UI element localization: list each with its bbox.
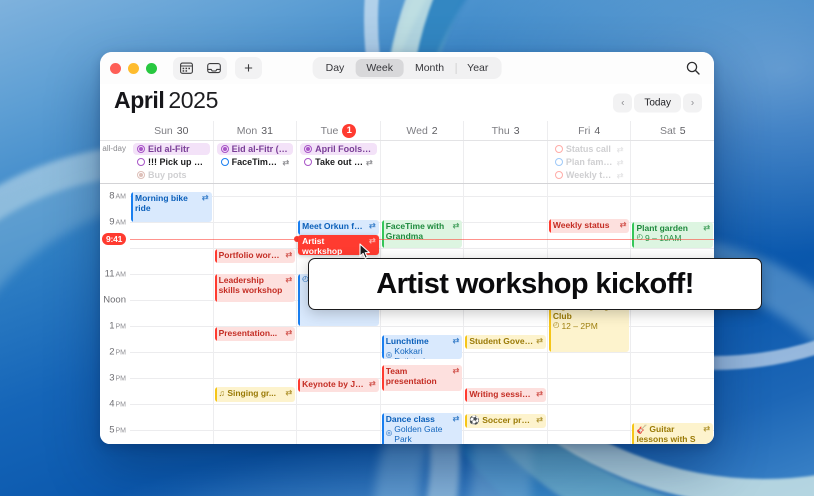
minimize-button[interactable] bbox=[128, 63, 139, 74]
event-title: Lunchtime bbox=[386, 336, 450, 346]
close-button[interactable] bbox=[110, 63, 121, 74]
time-label-text: 1 bbox=[109, 320, 114, 331]
calendar-event[interactable]: Weekly status⇄ bbox=[549, 219, 630, 233]
calendar-window: + Day Week Month Year April2025 ‹ bbox=[100, 52, 714, 444]
all-day-event-title: Status call bbox=[566, 144, 614, 154]
time-label-text: 11 bbox=[105, 268, 115, 279]
day-header-fri[interactable]: Fri4 bbox=[547, 121, 631, 140]
repeat-icon: ⇄ bbox=[369, 379, 376, 388]
event-time: ◴12 – 2PM bbox=[553, 321, 627, 331]
header-gutter bbox=[100, 121, 130, 140]
time-label-text: 8 bbox=[109, 190, 114, 201]
event-color-dot bbox=[221, 145, 229, 153]
tab-week[interactable]: Week bbox=[355, 59, 404, 77]
time-label: 4PM bbox=[109, 398, 126, 409]
all-day-event[interactable]: Take out the...⇄ bbox=[300, 156, 377, 168]
all-day-event[interactable]: Buy pots bbox=[133, 169, 210, 181]
event-title: Dance class bbox=[386, 414, 450, 424]
repeat-icon: ⇄ bbox=[617, 158, 624, 167]
traffic-lights bbox=[110, 63, 157, 74]
day-header-mon[interactable]: Mon31 bbox=[213, 121, 297, 140]
calendar-event[interactable]: ♫ Singing gr...⇄ bbox=[215, 387, 296, 403]
calendar-event[interactable]: Plant garden⇄◴9 – 10AM bbox=[632, 222, 713, 248]
calendar-event[interactable]: Presentation...⇄ bbox=[215, 327, 296, 341]
event-title: Writing sessio... bbox=[469, 389, 533, 399]
view-segmented-control[interactable]: Day Week Month Year bbox=[313, 57, 502, 79]
tab-month[interactable]: Month bbox=[404, 59, 455, 77]
mouse-cursor bbox=[359, 243, 371, 265]
time-label-suffix: PM bbox=[116, 375, 127, 382]
calendar-event[interactable]: Writing sessio...⇄ bbox=[465, 388, 546, 402]
all-day-event-title: Eid al-Fitr (obs... bbox=[232, 144, 290, 154]
repeat-icon: ⇄ bbox=[285, 250, 292, 259]
event-title: Portfolio work... bbox=[219, 250, 283, 260]
day-header-name: Fri bbox=[578, 125, 590, 137]
all-day-event[interactable]: FaceTime G...⇄ bbox=[217, 156, 294, 168]
time-label: 9AM bbox=[109, 216, 126, 227]
repeat-icon: ⇄ bbox=[536, 415, 543, 424]
repeat-icon: ⇄ bbox=[285, 328, 292, 337]
all-day-event-title: Weekly tea... bbox=[566, 170, 614, 180]
title-month: April bbox=[114, 87, 164, 113]
all-day-column bbox=[630, 141, 714, 183]
calendar-event[interactable]: FaceTime with Grandma⇄ bbox=[382, 220, 463, 247]
event-title: Leadership skills workshop bbox=[219, 275, 283, 295]
calendar-icon[interactable] bbox=[174, 58, 199, 79]
time-label-suffix: PM bbox=[116, 349, 127, 356]
all-day-column: Eid al-Fitr!!! Pick up arts...Buy pots bbox=[130, 141, 213, 183]
all-day-row: all-day Eid al-Fitr!!! Pick up arts...Bu… bbox=[100, 141, 714, 184]
calendar-event[interactable]: Student Gover...⇄ bbox=[465, 335, 546, 349]
event-color-dot bbox=[304, 158, 312, 166]
calendar-event[interactable]: Leadership skills workshop⇄ bbox=[215, 274, 296, 303]
maximize-button[interactable] bbox=[146, 63, 157, 74]
event-color-dot bbox=[137, 171, 145, 179]
clock-icon: ◴ bbox=[553, 321, 560, 330]
time-label-suffix: PM bbox=[116, 401, 127, 408]
day-header-wed[interactable]: Wed2 bbox=[380, 121, 464, 140]
event-tooltip: Artist workshop kickoff! bbox=[308, 258, 762, 310]
repeat-icon: ⇄ bbox=[453, 336, 460, 345]
window-toolbar: + Day Week Month Year bbox=[100, 52, 714, 84]
event-title: Meet Orkun fo... bbox=[302, 221, 366, 231]
repeat-icon: ⇄ bbox=[536, 336, 543, 345]
event-time-text: 9 – 10AM bbox=[645, 233, 681, 243]
time-label-text: 4 bbox=[109, 398, 114, 409]
day-header-sat[interactable]: Sat5 bbox=[630, 121, 714, 140]
all-day-event[interactable]: !!! Pick up arts... bbox=[133, 156, 210, 168]
all-day-column: Eid al-Fitr (obs...FaceTime G...⇄ bbox=[213, 141, 297, 183]
event-location-text: Kokkari Estiatorio bbox=[394, 346, 459, 360]
time-label-suffix: AM bbox=[116, 271, 127, 278]
time-label-suffix: AM bbox=[116, 193, 127, 200]
repeat-icon: ⇄ bbox=[369, 221, 376, 230]
event-location: ◎Golden Gate Park bbox=[386, 424, 460, 444]
all-day-label: all-day bbox=[100, 141, 130, 183]
day-header-name: Sun bbox=[154, 125, 173, 137]
all-day-column bbox=[463, 141, 547, 183]
all-day-event[interactable]: Eid al-Fitr (obs... bbox=[217, 143, 294, 155]
all-day-event[interactable]: Plan family...⇄ bbox=[551, 156, 628, 168]
time-label-text: 2 bbox=[109, 346, 114, 357]
all-day-event-title: !!! Pick up arts... bbox=[148, 157, 206, 167]
all-day-event-title: Plan family... bbox=[566, 157, 614, 167]
event-title: Weekly status bbox=[553, 220, 617, 230]
calendar-event[interactable]: ⚽ Soccer pra...⇄ bbox=[465, 414, 546, 428]
event-title: Keynote by Ja... bbox=[302, 379, 366, 389]
repeat-icon: ⇄ bbox=[282, 158, 289, 167]
calendar-event[interactable]: Dance class⇄◎Golden Gate Park◴4 – 5:30PM bbox=[382, 413, 463, 444]
repeat-icon: ⇄ bbox=[536, 389, 543, 398]
today-button[interactable]: Today bbox=[634, 93, 681, 112]
repeat-icon: ⇄ bbox=[617, 145, 624, 154]
time-label: 11AM bbox=[105, 268, 126, 279]
day-column[interactable]: Plant garden⇄◴9 – 10AM🎸 Guitar lessons w… bbox=[630, 184, 714, 444]
time-label: 1PM bbox=[109, 320, 126, 331]
event-title: 🎸 Guitar lessons with S bbox=[636, 424, 700, 444]
repeat-icon: ⇄ bbox=[703, 223, 710, 232]
repeat-icon: ⇄ bbox=[617, 171, 624, 180]
time-label-text: 9 bbox=[109, 216, 114, 227]
day-column[interactable]: Morning bike ride⇄ bbox=[130, 184, 213, 444]
time-label: 8AM bbox=[109, 190, 126, 201]
time-axis: 8AM9AM11AMNoon1PM2PM3PM4PM5PM bbox=[100, 184, 130, 444]
event-color-dot bbox=[221, 158, 229, 166]
repeat-icon: ⇄ bbox=[285, 388, 292, 397]
repeat-icon: ⇄ bbox=[285, 275, 292, 284]
time-label-suffix: PM bbox=[116, 323, 127, 330]
date-navigation: ‹ Today › bbox=[613, 93, 702, 112]
time-label: 2PM bbox=[109, 346, 126, 357]
add-event-button[interactable]: + bbox=[235, 57, 262, 79]
calendar-event[interactable]: Lunchtime⇄◎Kokkari Estiatorio bbox=[382, 335, 463, 360]
event-color-dot bbox=[555, 171, 563, 179]
day-header-name: Sat bbox=[660, 125, 676, 137]
time-label: Noon bbox=[103, 294, 126, 305]
title-year: 2025 bbox=[168, 87, 218, 113]
repeat-icon: ⇄ bbox=[703, 424, 710, 433]
event-title: ♫ Singing gr... bbox=[219, 388, 283, 398]
day-header-date: 3 bbox=[514, 125, 520, 137]
calendar-event[interactable]: Keynote by Ja...⇄ bbox=[298, 378, 379, 392]
time-label: 3PM bbox=[109, 372, 126, 383]
day-header-date: 31 bbox=[261, 125, 273, 137]
event-color-dot bbox=[137, 145, 145, 153]
location-pin-icon: ◎ bbox=[386, 351, 393, 359]
day-header-sun[interactable]: Sun30 bbox=[130, 121, 213, 140]
calendar-event[interactable]: 🎸 Guitar lessons with S⇄ bbox=[632, 423, 713, 444]
event-time-text: 12 – 2PM bbox=[561, 321, 597, 331]
page-title: April2025 bbox=[114, 87, 218, 114]
tab-year[interactable]: Year bbox=[456, 59, 499, 77]
event-location-text: Golden Gate Park bbox=[394, 424, 459, 444]
event-color-dot bbox=[555, 158, 563, 166]
inbox-icon[interactable] bbox=[201, 58, 226, 79]
all-day-event[interactable]: Weekly tea...⇄ bbox=[551, 169, 628, 181]
day-header-name: Mon bbox=[237, 125, 257, 137]
time-grid[interactable]: 8AM9AM11AMNoon1PM2PM3PM4PM5PM Morning bi… bbox=[100, 184, 714, 444]
event-title: ⚽ Soccer pra... bbox=[469, 415, 533, 425]
search-icon[interactable] bbox=[682, 57, 704, 79]
prev-week-button[interactable]: ‹ bbox=[613, 93, 632, 112]
day-header-date: 5 bbox=[680, 125, 686, 137]
all-day-column: April Fools' DayTake out the...⇄ bbox=[296, 141, 380, 183]
all-day-event-title: Eid al-Fitr bbox=[148, 144, 206, 154]
next-week-button[interactable]: › bbox=[683, 93, 702, 112]
day-header-date: 2 bbox=[432, 125, 438, 137]
current-time-badge: 9:41 bbox=[102, 233, 126, 245]
time-label: 5PM bbox=[109, 424, 126, 435]
event-title: Presentation... bbox=[219, 328, 283, 338]
all-day-event-title: April Fools' Day bbox=[315, 144, 373, 154]
event-color-dot bbox=[555, 145, 563, 153]
all-day-event[interactable]: Eid al-Fitr bbox=[133, 143, 210, 155]
event-color-dot bbox=[137, 158, 145, 166]
day-header-thu[interactable]: Thu3 bbox=[463, 121, 547, 140]
event-title: Artist workshop kickoff! bbox=[302, 236, 366, 256]
day-column[interactable]: Meet Orkun fo...⇄Artist workshop kickoff… bbox=[296, 184, 380, 444]
day-header-row: Sun30Mon31Tue1Wed2Thu3Fri4Sat5 bbox=[100, 121, 714, 141]
time-label-text: 5 bbox=[109, 424, 114, 435]
time-label-suffix: PM bbox=[116, 427, 127, 434]
day-header-name: Thu bbox=[492, 125, 510, 137]
event-title: Plant garden bbox=[636, 223, 700, 233]
clock-icon: ◴ bbox=[636, 233, 643, 242]
all-day-event[interactable]: Status call⇄ bbox=[551, 143, 628, 155]
event-location: ◎Kokkari Estiatorio bbox=[386, 346, 460, 360]
event-title: Morning bike ride bbox=[135, 193, 199, 213]
title-row: April2025 ‹ Today › bbox=[100, 84, 714, 121]
all-day-event-title: FaceTime G... bbox=[232, 157, 280, 167]
desktop-wallpaper: + Day Week Month Year April2025 ‹ bbox=[0, 0, 814, 496]
calendar-event[interactable]: Team presentation⇄ bbox=[382, 365, 463, 391]
calendar-event[interactable]: Portfolio work...⇄ bbox=[215, 249, 296, 263]
repeat-icon: ⇄ bbox=[202, 193, 209, 202]
all-day-column: Status call⇄Plan family...⇄Weekly tea...… bbox=[547, 141, 631, 183]
current-time-line bbox=[130, 239, 714, 240]
day-header-date: 30 bbox=[177, 125, 189, 137]
repeat-icon: ⇄ bbox=[620, 220, 627, 229]
day-header-name: Tue bbox=[321, 125, 339, 137]
day-header-tue[interactable]: Tue1 bbox=[296, 121, 380, 140]
all-day-event-title: Take out the... bbox=[315, 157, 363, 167]
day-column[interactable]: Student Gover...⇄Writing sessio...⇄⚽ Soc… bbox=[463, 184, 547, 444]
event-title: Student Gover... bbox=[469, 336, 533, 346]
all-day-column bbox=[380, 141, 464, 183]
event-time: ◴9 – 10AM bbox=[636, 233, 710, 243]
day-column[interactable]: Portfolio work...⇄Leadership skills work… bbox=[213, 184, 297, 444]
time-label-text: Noon bbox=[103, 294, 126, 305]
toolbar-icon-group bbox=[173, 57, 227, 80]
day-column[interactable]: FaceTime with Grandma⇄Lunchtime⇄◎Kokkari… bbox=[380, 184, 464, 444]
repeat-icon: ⇄ bbox=[453, 221, 460, 230]
all-day-event-title: Buy pots bbox=[148, 170, 206, 180]
all-day-event[interactable]: April Fools' Day bbox=[300, 143, 377, 155]
day-header-date: 4 bbox=[594, 125, 600, 137]
calendar-event[interactable]: Meet Orkun fo...⇄ bbox=[298, 220, 379, 234]
location-pin-icon: ◎ bbox=[386, 429, 393, 438]
calendar-event[interactable]: Morning bike ride⇄ bbox=[131, 192, 212, 222]
today-date-badge: 1 bbox=[342, 124, 356, 138]
time-label-suffix: AM bbox=[116, 219, 127, 226]
event-title: Team presentation bbox=[386, 366, 450, 386]
time-label-text: 3 bbox=[109, 372, 114, 383]
event-color-dot bbox=[304, 145, 312, 153]
repeat-icon: ⇄ bbox=[366, 158, 373, 167]
tab-day[interactable]: Day bbox=[315, 59, 356, 77]
day-column[interactable]: Weekly status⇄Sign Language Club⇄◴12 – 2… bbox=[547, 184, 631, 444]
day-header-name: Wed bbox=[406, 125, 427, 137]
repeat-icon: ⇄ bbox=[453, 414, 460, 423]
repeat-icon: ⇄ bbox=[453, 366, 460, 375]
